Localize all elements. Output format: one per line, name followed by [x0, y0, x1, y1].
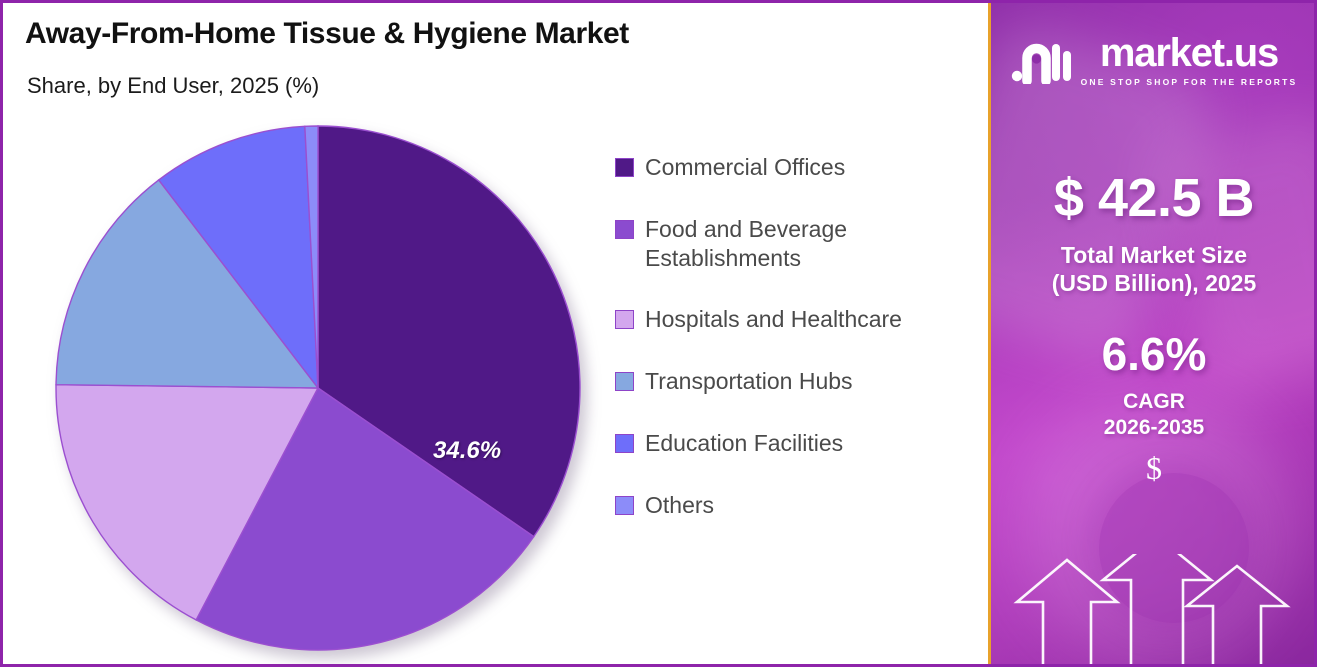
legend-item[interactable]: Transportation Hubs	[615, 367, 975, 396]
legend-item[interactable]: Food and Beverage Establishments	[615, 215, 975, 273]
cagr-caption-line2: 2026-2035	[991, 415, 1317, 441]
cagr-caption: CAGR 2026-2035	[991, 389, 1317, 442]
legend-swatch-icon	[615, 310, 634, 329]
legend-item[interactable]: Hospitals and Healthcare	[615, 305, 975, 334]
legend-item[interactable]: Others	[615, 491, 975, 520]
legend-swatch-icon	[615, 496, 634, 515]
market-us-logo-icon	[1011, 38, 1071, 84]
pie-chart: 34.6%	[55, 125, 581, 651]
legend-swatch-icon	[615, 158, 634, 177]
legend-item-label: Hospitals and Healthcare	[645, 305, 902, 334]
legend-swatch-icon	[615, 220, 634, 239]
currency-symbol: $	[991, 452, 1317, 484]
page-title: Away-From-Home Tissue & Hygiene Market	[25, 17, 629, 51]
stats-panel: market.us ONE STOP SHOP FOR THE REPORTS …	[988, 3, 1317, 664]
legend-item-label: Commercial Offices	[645, 153, 845, 182]
legend-swatch-icon	[615, 434, 634, 453]
pie-data-label: 34.6%	[433, 437, 501, 465]
legend-item-label: Education Facilities	[645, 429, 843, 458]
brand-name: market.us	[1100, 33, 1278, 73]
legend-item-label: Food and Beverage Establishments	[645, 215, 975, 273]
legend-swatch-icon	[615, 372, 634, 391]
market-size-caption-line2: (USD Billion), 2025	[991, 269, 1317, 297]
legend-item[interactable]: Education Facilities	[615, 429, 975, 458]
legend-item-label: Transportation Hubs	[645, 367, 853, 396]
cagr-caption-line1: CAGR	[991, 389, 1317, 415]
brand-logo: market.us ONE STOP SHOP FOR THE REPORTS	[991, 33, 1317, 87]
chart-subtitle: Share, by End User, 2025 (%)	[27, 73, 319, 99]
chart-legend: Commercial OfficesFood and Beverage Esta…	[615, 153, 975, 552]
cagr-value: 6.6%	[991, 331, 1317, 377]
market-size-caption: Total Market Size (USD Billion), 2025	[991, 241, 1317, 297]
legend-item-label: Others	[645, 491, 714, 520]
market-size-caption-line1: Total Market Size	[991, 241, 1317, 269]
stat-block: $ 42.5 B Total Market Size (USD Billion)…	[991, 171, 1317, 484]
legend-item[interactable]: Commercial Offices	[615, 153, 975, 182]
market-size-value: $ 42.5 B	[991, 171, 1317, 225]
chart-panel: Away-From-Home Tissue & Hygiene Market S…	[3, 3, 988, 664]
pie-slices	[55, 125, 581, 651]
infographic-page: Away-From-Home Tissue & Hygiene Market S…	[0, 0, 1317, 667]
brand-tagline: ONE STOP SHOP FOR THE REPORTS	[1081, 77, 1298, 87]
growth-arrows-icon	[991, 554, 1317, 664]
